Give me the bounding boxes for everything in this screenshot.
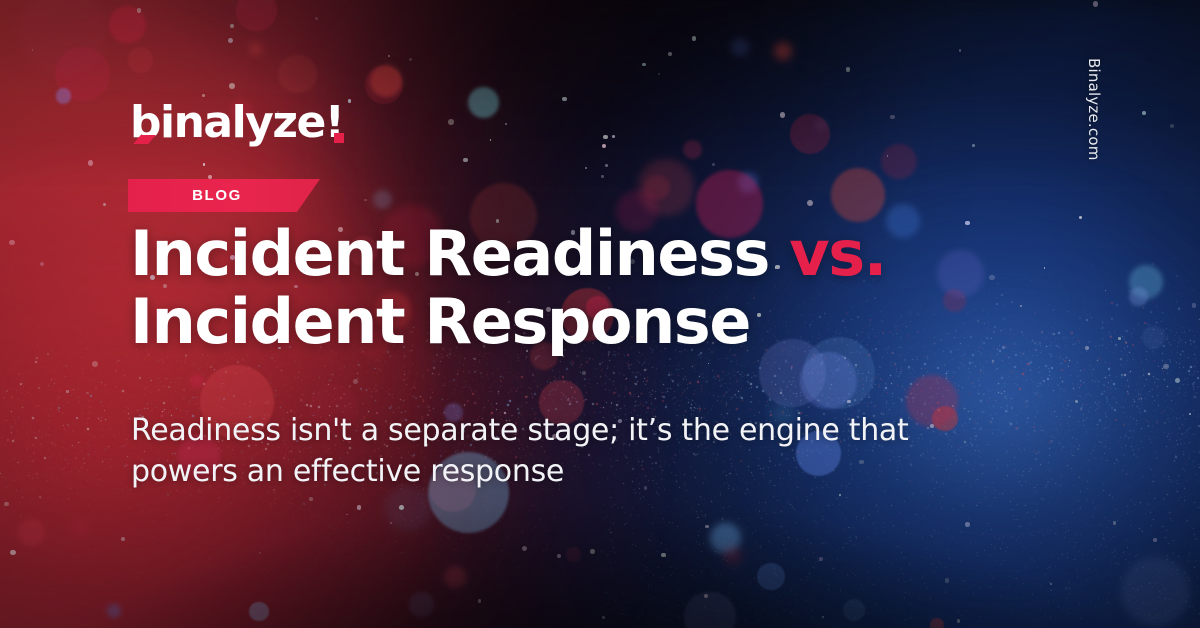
headline-accent-text: vs. xyxy=(789,217,886,290)
logo-exclamation-dot-icon xyxy=(334,133,344,143)
headline-main-text: Incident Readiness xyxy=(130,217,789,290)
subtitle-line-2: powers an effective response xyxy=(131,451,1011,492)
content-layer: binalyze! BLOG Incident Readiness vs. In… xyxy=(0,0,1200,628)
logo-wordmark: binalyze! xyxy=(130,101,343,145)
headline-line-2: Incident Response xyxy=(130,293,1030,352)
binalyze-logo[interactable]: binalyze! xyxy=(130,97,343,145)
blog-banner: binalyze! BLOG Incident Readiness vs. In… xyxy=(0,0,1200,628)
site-url-vertical[interactable]: Binalyze.com xyxy=(1083,58,1103,166)
page-title: Incident Readiness vs. Incident Response xyxy=(130,225,1030,361)
subtitle-line-1: Readiness isn't a separate stage; it’s t… xyxy=(131,410,1011,451)
page-subtitle: Readiness isn't a separate stage; it’s t… xyxy=(131,410,1011,493)
blog-badge: BLOG xyxy=(128,179,320,212)
blog-badge-label: BLOG xyxy=(192,187,242,204)
headline-line-1: Incident Readiness vs. xyxy=(130,225,1030,284)
